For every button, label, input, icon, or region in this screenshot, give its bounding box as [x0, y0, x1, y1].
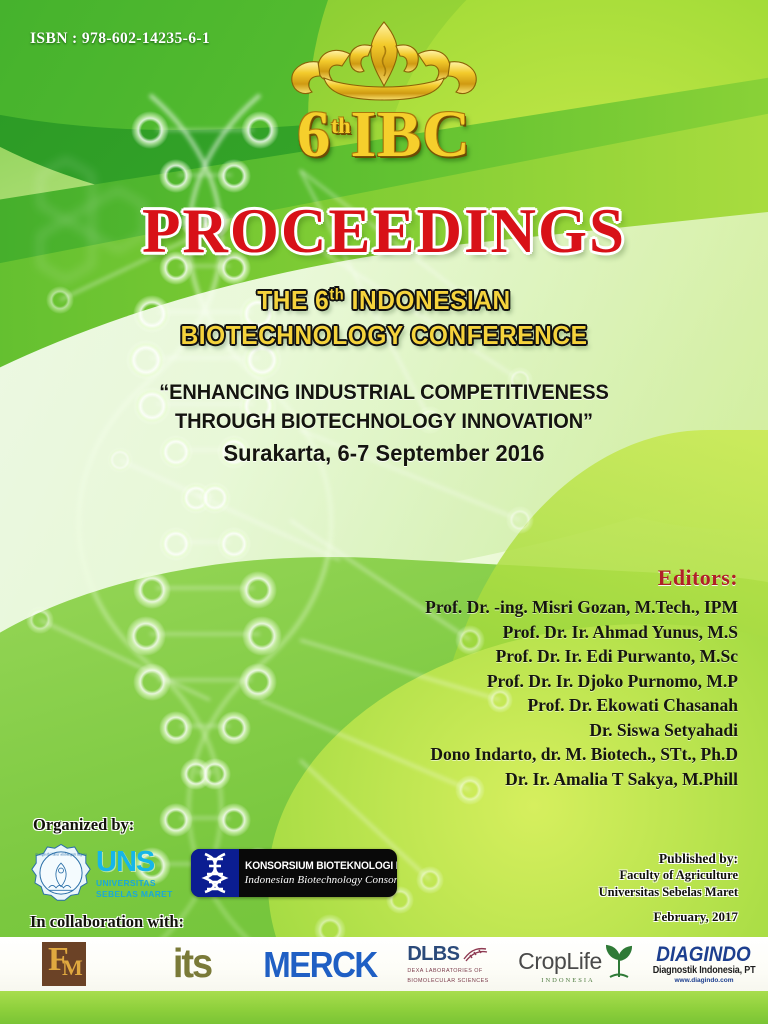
sponsor-its: its [128, 937, 256, 991]
logo-number: 6 [297, 98, 331, 171]
kbi-title-indonesian: KONSORSIUM BIOTEKNOLOGI INDONESIA [245, 860, 397, 872]
kbi-text: KONSORSIUM BIOTEKNOLOGI INDONESIA Indone… [239, 860, 397, 886]
kbi-title-english: Indonesian Biotechnology Consortium [245, 874, 397, 886]
dna-swirl-icon [462, 946, 488, 962]
sponsor-logo-strip: F M its MERCK DLBS [0, 937, 768, 991]
its-logo: its [173, 943, 211, 984]
conference-name-line1-post: INDONESIAN [344, 285, 510, 315]
croplife-logo: CropLife INDONESIA [518, 944, 634, 984]
logo-acronym: IBC [350, 98, 470, 171]
conference-proceedings-cover: ISBN : 978-602-14235-6-1 [0, 0, 768, 1024]
conference-theme: “ENHANCING INDUSTRIAL COMPETITIVENESS TH… [27, 378, 741, 435]
dlbs-subtitle-line2: BIOMOLECULAR SCIENCES [407, 978, 488, 986]
crown-ornament-icon [284, 16, 484, 108]
editors-heading: Editors: [425, 565, 738, 591]
croplife-row: CropLife [518, 944, 634, 978]
conference-name-line1: THE 6th INDONESIAN [23, 283, 745, 318]
diagindo-wordmark: DIAGINDO [657, 944, 752, 965]
dlbs-wordmark: DLBS [407, 943, 459, 966]
bottom-green-band [0, 991, 768, 1024]
editors-section: Editors: Prof. Dr. -ing. Misri Gozan, M.… [425, 565, 738, 791]
sponsor-dlbs: DLBS DEXA LABORATORIES OF BIOMOLECULAR S… [384, 937, 512, 991]
dlbs-subtitle-line1: DEXA LABORATORIES OF [407, 968, 482, 976]
publisher-line1: Faculty of Agriculture [599, 867, 738, 884]
svg-text:mangesthi luhur ambangun nagar: mangesthi luhur ambangun nagara [35, 853, 87, 857]
dna-zigzag-icon [191, 849, 239, 897]
publisher-line2: Universitas Sebelas Maret [599, 884, 738, 901]
sponsor-croplife: CropLife INDONESIA [512, 937, 640, 991]
sponsor-merck: MERCK [256, 937, 384, 991]
theme-line2: THROUGH BIOTECHNOLOGY INNOVATION” [27, 407, 741, 436]
publication-date: February, 2017 [599, 909, 738, 925]
uns-seal-icon: mangesthi luhur ambangun nagara [30, 842, 92, 904]
theme-line1: “ENHANCING INDUSTRIAL COMPETITIVENESS [27, 378, 741, 407]
diagindo-subtitle: Diagnostik Indonesia, PT [653, 966, 756, 976]
fm-letter-m: M [62, 959, 83, 977]
uns-subtitle-line1: UNIVERSITAS [96, 879, 173, 888]
conference-name: THE 6th INDONESIAN BIOTECHNOLOGY CONFERE… [23, 283, 745, 352]
editor-name: Prof. Dr. Ekowati Chasanah [425, 693, 738, 718]
diagindo-logo: DIAGINDO Diagnostik Indonesia, PT www.di… [647, 944, 761, 985]
merck-logo: MERCK [263, 946, 377, 982]
logo-wordmark: 6thIBC [297, 102, 471, 168]
editor-name: Prof. Dr. Ir. Ahmad Yunus, M.S [425, 620, 738, 645]
uns-subtitle-line2: SEBELAS MARET [96, 890, 173, 899]
uns-wordmark: UNS UNIVERSITAS SEBELAS MARET [96, 848, 173, 898]
editor-name: Prof. Dr. Ir. Djoko Purnomo, M.P [425, 669, 738, 694]
organized-by-label: Organized by: [33, 815, 134, 835]
kbi-logo: KONSORSIUM BIOTEKNOLOGI INDONESIA Indone… [191, 849, 397, 897]
sponsor-diagindo: DIAGINDO Diagnostik Indonesia, PT www.di… [640, 937, 768, 991]
conference-logo: 6thIBC [0, 16, 768, 168]
editor-name: Prof. Dr. -ing. Misri Gozan, M.Tech., IP… [425, 595, 738, 620]
page-title: PROCEEDINGS [0, 200, 768, 263]
dlbs-logo: DLBS DEXA LABORATORIES OF BIOMOLECULAR S… [407, 943, 488, 986]
published-by-label: Published by: [599, 851, 738, 867]
venue-and-date: Surakarta, 6-7 September 2016 [19, 440, 749, 467]
uns-acronym: UNS [96, 848, 173, 877]
editor-name: Dono Indarto, dr. M. Biotech., STt., Ph.… [425, 742, 738, 767]
dlbs-top-row: DLBS [407, 943, 488, 966]
collaboration-label: In collaboration with: [30, 912, 184, 932]
published-by-section: Published by: Faculty of Agriculture Uni… [599, 851, 738, 925]
fm-logo: F M [42, 942, 86, 986]
diagindo-website: www.diagindo.com [675, 978, 734, 985]
editor-name: Dr. Ir. Amalia T Sakya, M.Phill [425, 767, 738, 792]
editor-name: Dr. Siswa Setyahadi [425, 718, 738, 743]
logo-ordinal: th [331, 114, 350, 138]
conference-name-ordinal: th [329, 286, 344, 303]
sprout-icon [604, 944, 634, 978]
conference-name-line2: BIOTECHNOLOGY CONFERENCE [23, 318, 745, 353]
croplife-subtitle: INDONESIA [541, 977, 594, 984]
organizer-logos: mangesthi luhur ambangun nagara UNS UNIV… [30, 842, 397, 904]
editor-name: Prof. Dr. Ir. Edi Purwanto, M.Sc [425, 644, 738, 669]
conference-name-line1-pre: THE 6 [257, 285, 329, 315]
sponsor-fm: F M [0, 937, 128, 991]
croplife-wordmark: CropLife [518, 948, 602, 975]
